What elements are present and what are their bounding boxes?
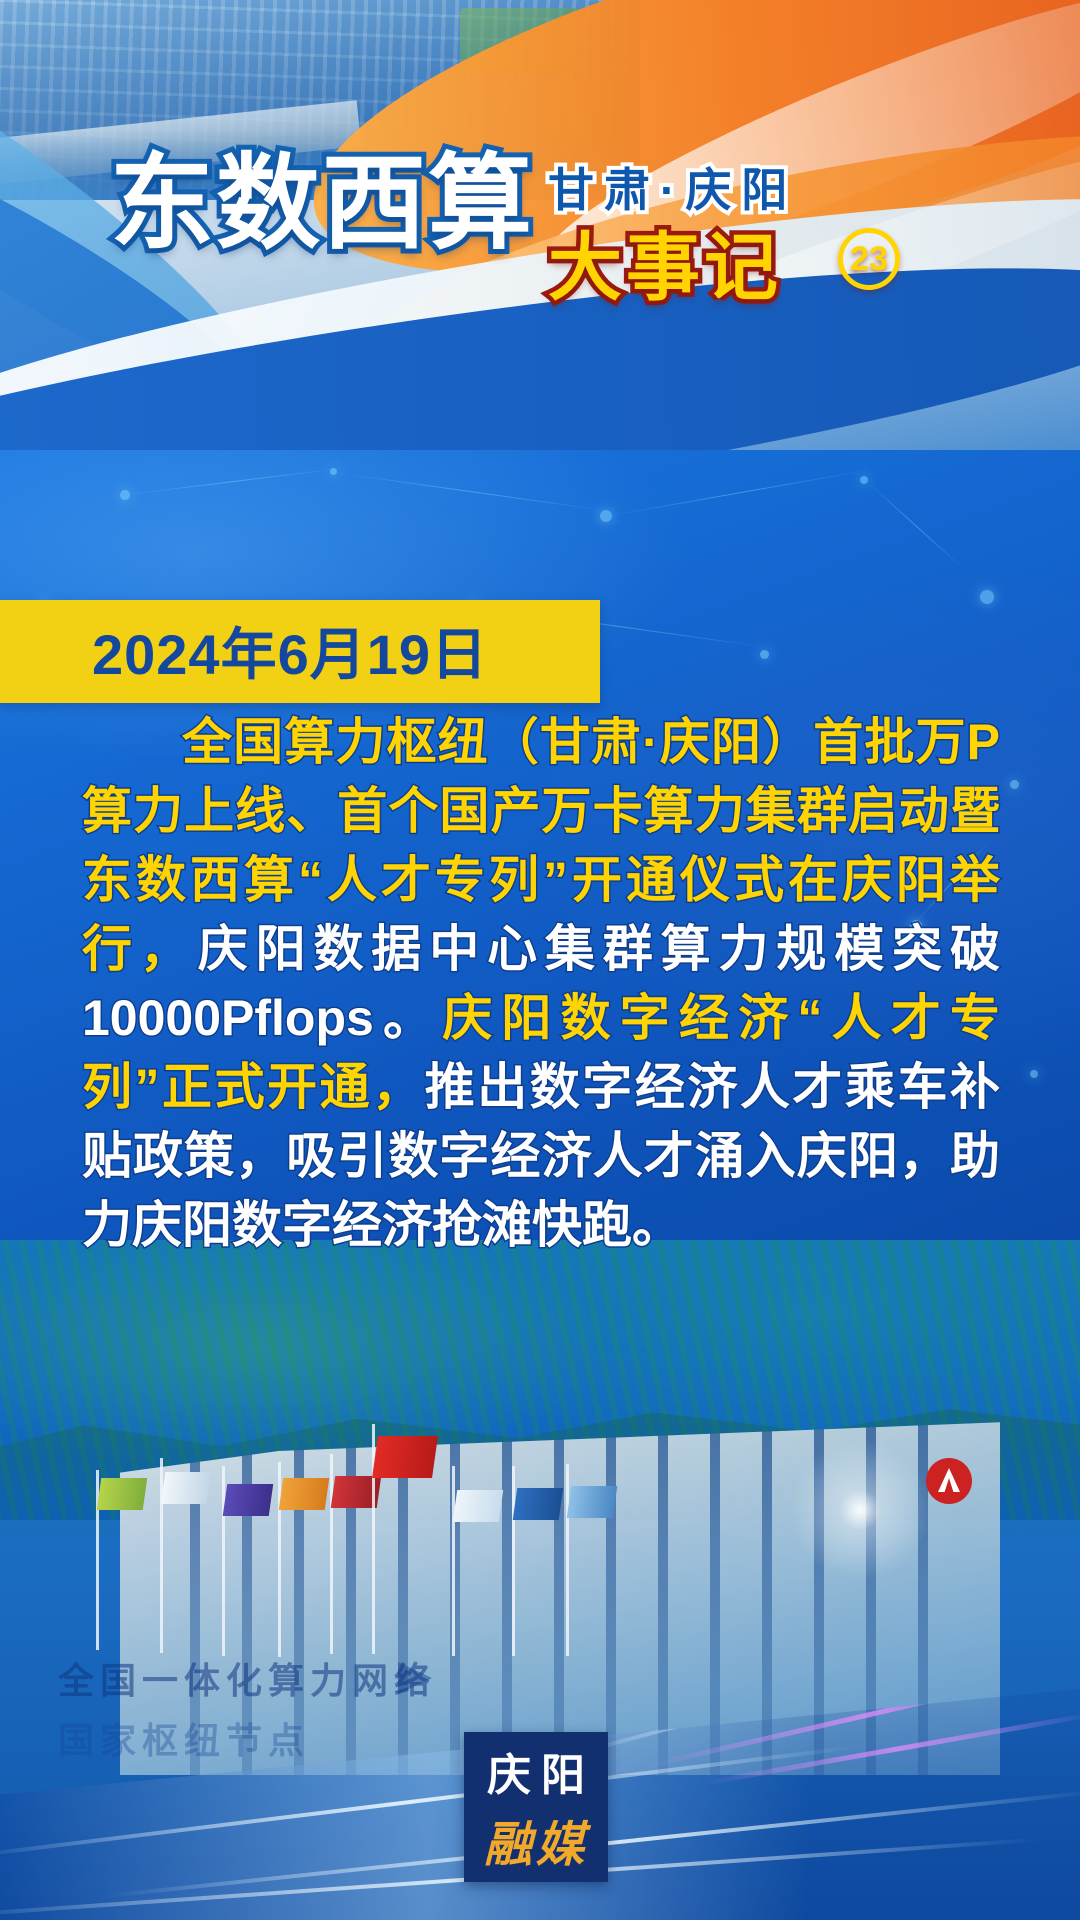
company-logo-icon: [926, 1458, 972, 1504]
flag-white-2: [453, 1490, 503, 1522]
media-logo-bottom-text: 融媒: [484, 1805, 588, 1875]
flag-green: [97, 1478, 147, 1510]
article-body: 全国算力枢纽（甘肃·庆阳）首批万P算力上线、首个国产万卡算力集群启动暨东数西算“…: [82, 708, 1000, 1260]
signage-arrow-icon: [398, 1662, 432, 1694]
poster-root: 东数西算 甘肃·庆阳 大事记 23 202: [0, 0, 1080, 1920]
media-logo: 庆阳 融媒: [464, 1732, 608, 1882]
event-date: 2024年6月19日: [92, 610, 560, 691]
flag-lightblue: [567, 1486, 617, 1518]
signage-line-2: 国家枢纽节点: [58, 1712, 436, 1764]
flag-china: [372, 1436, 438, 1478]
date-banner: 2024年6月19日: [0, 600, 600, 703]
title-block: 东数西算 甘肃·庆阳 大事记 23: [0, 150, 1080, 310]
article-paragraph: 全国算力枢纽（甘肃·庆阳）首批万P算力上线、首个国产万卡算力集群启动暨东数西算“…: [82, 708, 1000, 1260]
flag-orange: [279, 1478, 329, 1510]
main-title: 东数西算: [110, 150, 534, 259]
flag-white: [161, 1472, 211, 1504]
media-logo-top-text: 庆阳: [477, 1739, 595, 1803]
flag-purple: [223, 1484, 273, 1516]
lens-flare: [780, 1430, 940, 1590]
issue-number-badge: 23: [838, 228, 900, 290]
signage-line-1: 全国一体化算力网络: [58, 1652, 436, 1704]
flag-blue: [513, 1488, 563, 1520]
wall-signage: 全国一体化算力网络 国家枢纽节点: [58, 1652, 436, 1764]
series-title: 大事记: [548, 208, 782, 315]
